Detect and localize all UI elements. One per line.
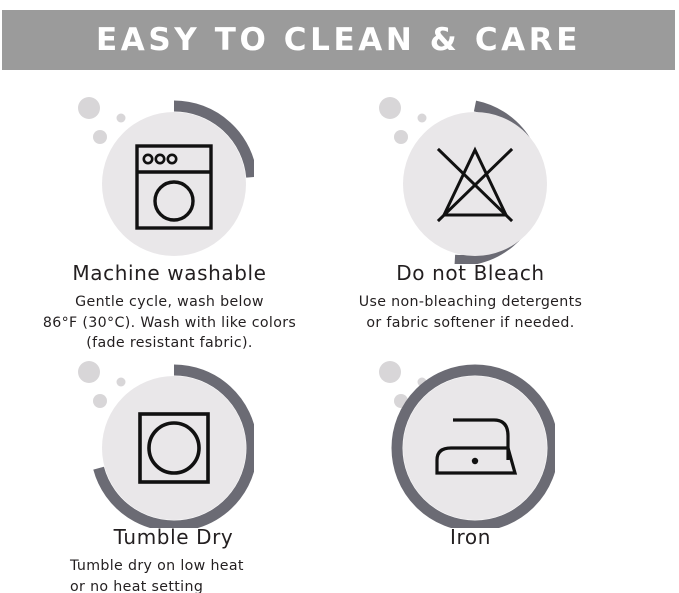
- card-text-tumble-dry: Tumble Dry Tumble dry on low heat or no …: [0, 525, 339, 593]
- iron-dot-icon: [472, 458, 478, 464]
- header-banner: EASY TO CLEAN & CARE: [2, 10, 675, 70]
- card-text-do-not-bleach: Do not Bleach Use non-bleaching detergen…: [301, 261, 640, 333]
- care-card-tumble-dry: Tumble Dry Tumble dry on low heat or no …: [0, 340, 339, 593]
- card-title: Machine washable: [0, 261, 339, 286]
- icon-badge-machine-washable: [74, 84, 254, 264]
- care-instructions-page: EASY TO CLEAN & CARE: [0, 0, 679, 593]
- care-card-iron: Iron: [301, 340, 640, 593]
- care-card-machine-washable: Machine washable Gentle cycle, wash belo…: [0, 76, 339, 334]
- iron-icon: [375, 348, 555, 528]
- card-description: Tumble dry on low heat or no heat settin…: [0, 556, 339, 593]
- card-title: Do not Bleach: [301, 261, 640, 286]
- care-grid: Machine washable Gentle cycle, wash belo…: [0, 76, 679, 593]
- no-bleach-triangle-icon: [375, 84, 555, 264]
- icon-badge-tumble-dry: [74, 348, 254, 528]
- page-title: EASY TO CLEAN & CARE: [96, 25, 581, 56]
- card-title: Tumble Dry: [0, 525, 339, 550]
- washing-machine-icon: [74, 84, 254, 264]
- card-title: Iron: [301, 525, 640, 550]
- card-description: Use non-bleaching detergents or fabric s…: [301, 292, 640, 333]
- icon-badge-iron: [375, 348, 555, 528]
- icon-badge-do-not-bleach: [375, 84, 555, 264]
- card-text-iron: Iron: [301, 525, 640, 556]
- care-card-do-not-bleach: Do not Bleach Use non-bleaching detergen…: [301, 76, 640, 334]
- tumble-dry-icon: [74, 348, 254, 528]
